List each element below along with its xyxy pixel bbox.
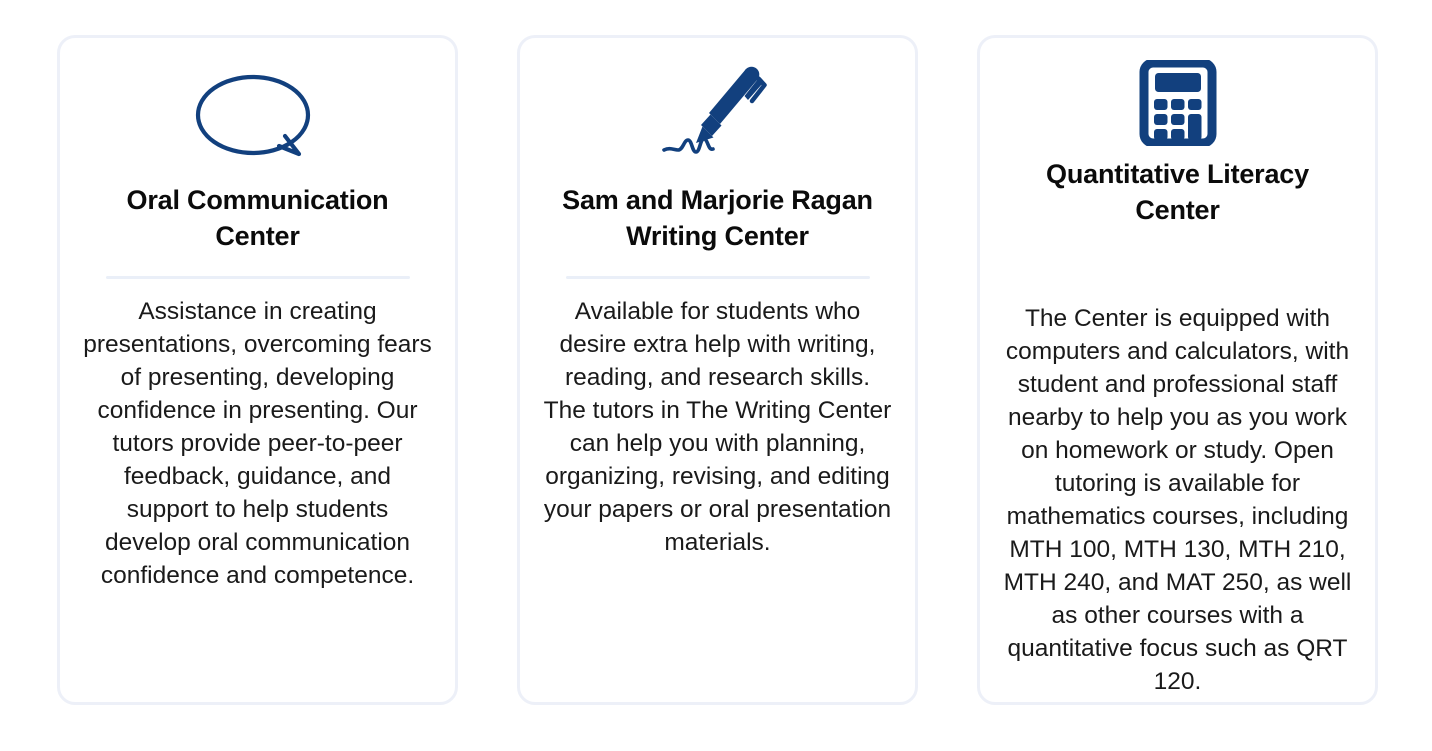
page-root: Oral Communication Center Assistance in … <box>0 0 1432 751</box>
card-quantitative-literacy-center[interactable]: Quantitative Literacy Center The Center … <box>977 35 1378 705</box>
card-body: Available for students who desire extra … <box>536 295 899 559</box>
card-divider <box>106 276 410 279</box>
card-ragan-writing-center[interactable]: Sam and Marjorie Ragan Writing Center Av… <box>517 35 918 705</box>
card-title: Quantitative Literacy Center <box>996 156 1359 228</box>
speech-bubble-icon <box>193 64 323 176</box>
service-cards-row: Oral Communication Center Assistance in … <box>57 35 1378 705</box>
calculator-icon <box>1139 60 1217 146</box>
card-title: Sam and Marjorie Ragan Writing Center <box>536 182 899 254</box>
card-body: Assistance in creating presentations, ov… <box>76 295 439 592</box>
card-title: Oral Communication Center <box>76 182 439 254</box>
card-body: The Center is equipped with computers an… <box>996 302 1359 698</box>
pen-signature-icon <box>658 60 778 172</box>
card-oral-communication-center[interactable]: Oral Communication Center Assistance in … <box>57 35 458 705</box>
card-divider <box>566 276 870 279</box>
